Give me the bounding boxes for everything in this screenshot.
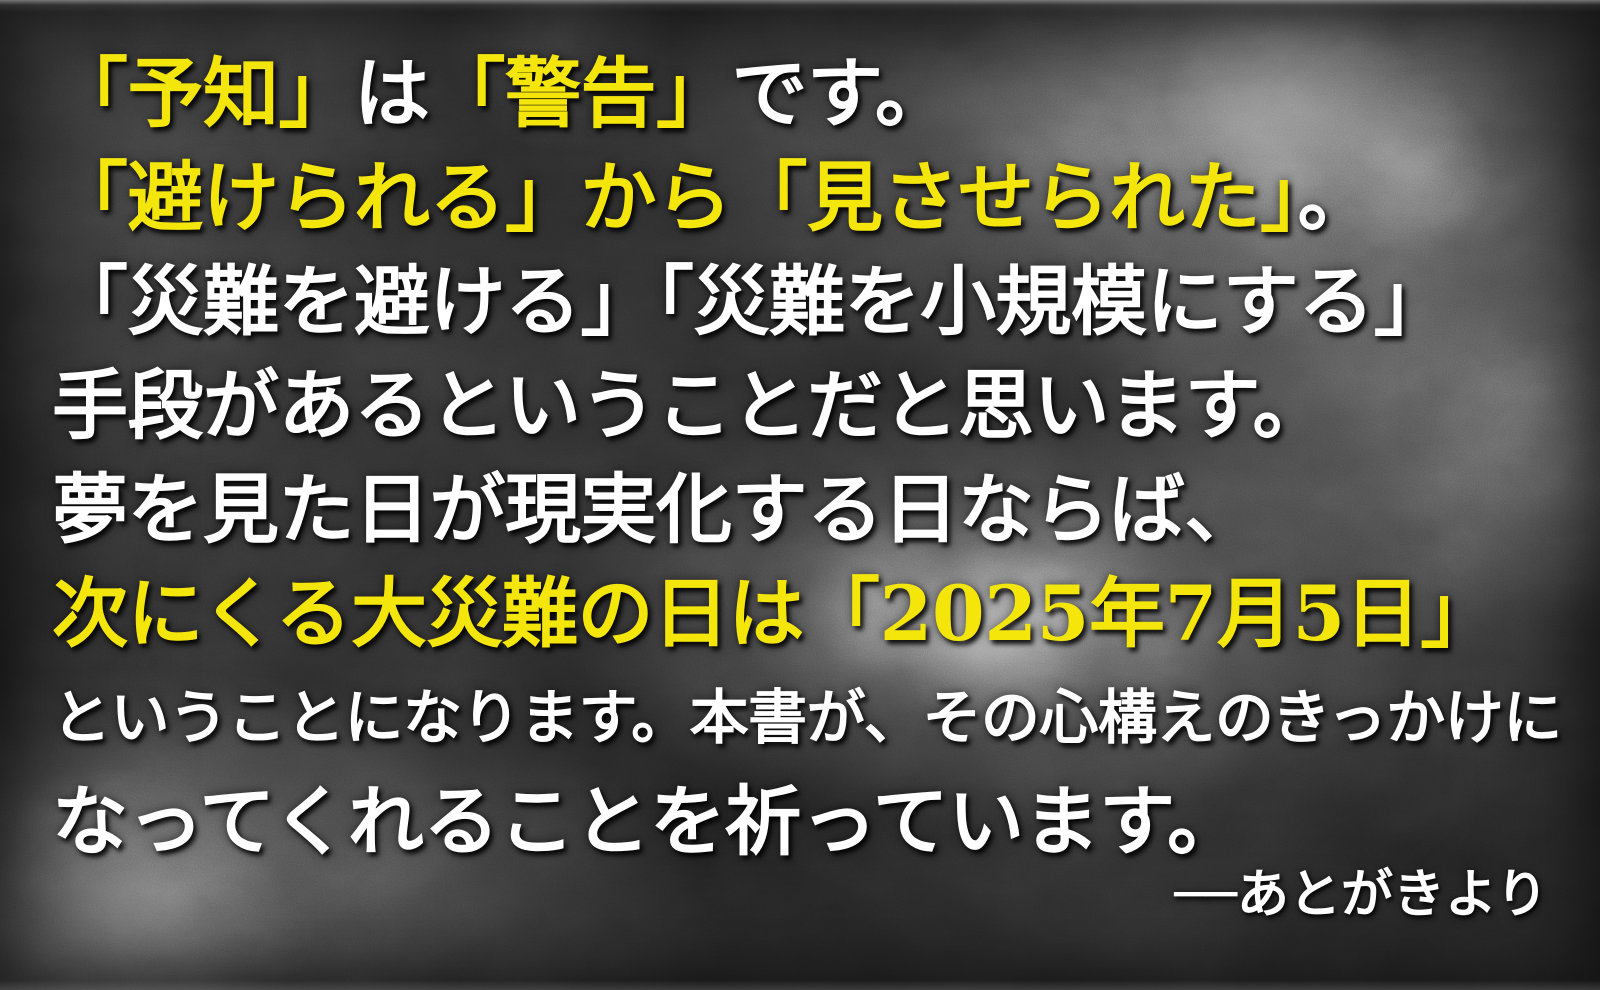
quote-segment-highlight: 「避けられる」から「見させられた」 (52, 153, 1298, 242)
quote-segment-plain: 夢を見た日が現実化する日ならば、 (52, 465, 1260, 554)
quote-segment-plain: なってくれることを祈っています。 (52, 777, 1243, 866)
quote-segment-plain: ということになります。本書が、その心構えのきっかけに (52, 683, 1562, 752)
quote-segment-highlight: 「予知」 (52, 49, 354, 138)
quote-segment-plain: 手段があるということだと思います。 (52, 361, 1328, 450)
quote-line-7: ということになります。本書が、その心構えのきっかけに (52, 666, 1562, 770)
quote-line-4: 手段があるということだと思います。 (52, 354, 1562, 458)
quote-text-block: 「予知」は「警告」です。 「避けられる」から「見させられた」。 「災難を避ける」… (52, 42, 1562, 874)
quote-line-8: なってくれることを祈っています。 (52, 770, 1562, 874)
quote-line-3: 「災難を避ける」「災難を小規模にする」 (52, 250, 1562, 354)
quote-line-5: 夢を見た日が現実化する日ならば、 (52, 458, 1562, 562)
quote-segment-highlight: 「警告」 (430, 49, 732, 138)
quote-segment-plain: は (354, 49, 430, 138)
quote-line-6: 次にくる大災難の日は「2025年7月5日」 (52, 562, 1562, 666)
quote-segment-highlight: 次にくる大災難の日は「2025年7月5日」 (52, 569, 1496, 658)
quote-line-1: 「予知」は「警告」です。 (52, 42, 1562, 146)
quote-line-2: 「避けられる」から「見させられた」。 (52, 146, 1562, 250)
quote-segment-plain: 。 (1298, 153, 1374, 242)
quote-segment-plain: 「災難を避ける」「災難を小規模にする」 (52, 257, 1449, 346)
quote-segment-plain: です。 (732, 49, 951, 138)
quote-card: 「予知」は「警告」です。 「避けられる」から「見させられた」。 「災難を避ける」… (0, 0, 1600, 990)
quote-attribution: ──あとがきより (1174, 866, 1548, 924)
